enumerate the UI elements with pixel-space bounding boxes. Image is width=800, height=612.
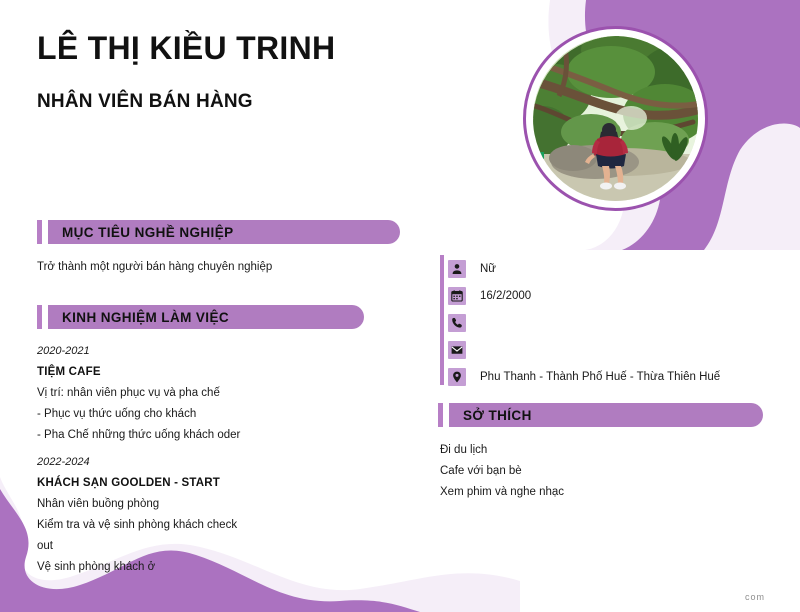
hobby-item: Xem phim và nghe nhạc <box>440 482 760 503</box>
info-accent-rail <box>440 255 444 385</box>
profile-photo <box>533 36 698 201</box>
experience-line: out <box>37 536 287 557</box>
experience-entry: 2022-2024 KHÁCH SẠN GOOLDEN - START Nhân… <box>37 452 287 578</box>
personal-info-list: Nữ 16/2/2000 <box>440 255 770 390</box>
info-row-gender: Nữ <box>440 255 770 282</box>
info-value-gender: Nữ <box>480 263 496 275</box>
section-bar: KINH NGHIỆM LÀM VIỆC <box>48 305 364 329</box>
calendar-icon <box>448 287 466 305</box>
section-accent-tick <box>438 403 443 427</box>
info-row-birthdate: 16/2/2000 <box>440 282 770 309</box>
experience-entry: 2020-2021 TIỆM CAFE Vị trí: nhân viên ph… <box>37 341 287 446</box>
hobby-item: Đi du lịch <box>440 440 760 461</box>
experience-line: - Phục vụ thức uống cho khách <box>37 404 287 425</box>
profile-photo-frame <box>523 26 708 211</box>
experience-line: Vị trí: nhân viên phục vụ và pha chế <box>37 383 287 404</box>
section-header-experience: KINH NGHIỆM LÀM VIỆC <box>37 305 364 329</box>
page-title: LÊ THỊ KIỀU TRINH <box>37 30 335 67</box>
hobby-item: Cafe với bạn bè <box>440 461 760 482</box>
hobbies-list: Đi du lịch Cafe với bạn bè Xem phim và n… <box>440 440 760 503</box>
experience-line: Kiểm tra và vệ sinh phòng khách check <box>37 515 287 536</box>
info-value-birthdate: 16/2/2000 <box>480 290 531 302</box>
location-pin-icon <box>448 368 466 386</box>
experience-company: KHÁCH SẠN GOOLDEN - START <box>37 473 287 494</box>
info-row-email <box>440 336 770 363</box>
experience-line: Nhân viên buồng phòng <box>37 494 287 515</box>
info-value-address: Phu Thanh - Thành Phố Huế - Thừa Thiên H… <box>480 371 720 383</box>
experience-date: 2020-2021 <box>37 341 287 362</box>
objective-text: Trở thành một người bán hàng chuyên nghi… <box>37 257 337 278</box>
section-title-experience: KINH NGHIỆM LÀM VIỆC <box>48 310 229 325</box>
experience-line: - Pha Chế những thức uống khách oder <box>37 425 287 446</box>
experience-company: TIỆM CAFE <box>37 362 287 383</box>
section-title-hobbies: SỞ THÍCH <box>449 408 532 423</box>
info-row-phone <box>440 309 770 336</box>
section-bar: MỤC TIÊU NGHỀ NGHIỆP <box>48 220 400 244</box>
watermark-text: com <box>745 592 765 602</box>
section-header-objective: MỤC TIÊU NGHỀ NGHIỆP <box>37 220 400 244</box>
experience-date: 2022-2024 <box>37 452 287 473</box>
cv-page: LÊ THỊ KIỀU TRINH NHÂN VIÊN BÁN HÀNG MỤC… <box>0 0 800 612</box>
envelope-icon <box>448 341 466 359</box>
phone-icon <box>448 314 466 332</box>
person-icon <box>448 260 466 278</box>
job-role-subtitle: NHÂN VIÊN BÁN HÀNG <box>37 91 253 113</box>
section-accent-tick <box>37 220 42 244</box>
section-header-hobbies: SỞ THÍCH <box>438 403 763 427</box>
section-bar: SỞ THÍCH <box>449 403 763 427</box>
section-title-objective: MỤC TIÊU NGHỀ NGHIỆP <box>48 225 234 240</box>
experience-line: Vệ sinh phòng khách ở <box>37 557 287 578</box>
info-row-address: Phu Thanh - Thành Phố Huế - Thừa Thiên H… <box>440 363 770 390</box>
section-accent-tick <box>37 305 42 329</box>
